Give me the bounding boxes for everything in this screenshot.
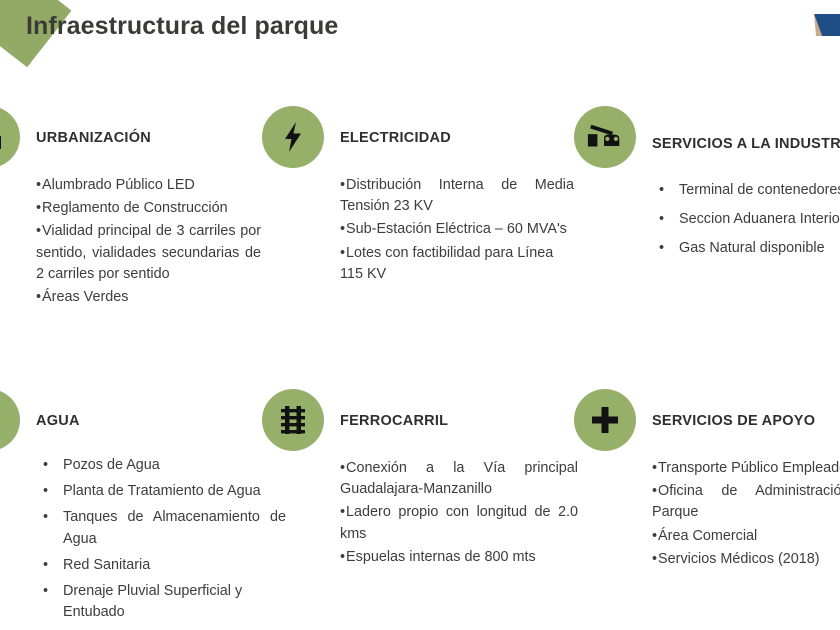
- feature-list: Pozos de Agua Planta de Tratamiento de A…: [36, 455, 286, 623]
- city-buildings-icon: [0, 106, 20, 168]
- list-item: Distribución Interna de Media Tensión 23…: [340, 175, 574, 217]
- list-item: Terminal de contenedores: [652, 180, 840, 201]
- feature-list: Conexión a la Vía principal Guadalajara-…: [340, 458, 578, 568]
- section-body: Conexión a la Vía principal Guadalajara-…: [340, 458, 578, 570]
- section-body: Distribución Interna de Media Tensión 23…: [340, 175, 574, 287]
- list-item: Vialidad principal de 3 carriles por sen…: [36, 221, 261, 285]
- feature-row-top: URBANIZACIÓN Alumbrado Público LED Regla…: [0, 100, 840, 370]
- list-item: Lotes con factibilidad para Línea 115 KV: [340, 243, 574, 285]
- company-logo: [806, 6, 840, 42]
- feature-list: Alumbrado Público LED Reglamento de Cons…: [36, 175, 261, 308]
- section-body: Transporte Público Empleados Oficina de …: [652, 458, 840, 572]
- list-item: Red Sanitaria: [36, 555, 286, 576]
- lightning-bolt-icon: [262, 106, 324, 168]
- section-body: Terminal de contenedores Seccion Aduaner…: [652, 180, 840, 268]
- list-item: Tanques de Almacenamiento de Agua: [36, 507, 286, 549]
- list-item: Pozos de Agua: [36, 455, 286, 476]
- section-heading: ELECTRICIDAD: [340, 130, 451, 146]
- water-drop-icon: [0, 389, 20, 451]
- section-body: Alumbrado Público LED Reglamento de Cons…: [36, 175, 261, 310]
- list-item: Área Comercial: [652, 526, 840, 547]
- list-item: Conexión a la Vía principal Guadalajara-…: [340, 458, 578, 500]
- section-heading: URBANIZACIÓN: [36, 130, 151, 146]
- section-heading: AGUA: [36, 413, 80, 429]
- list-item: Gas Natural disponible: [652, 238, 840, 259]
- list-item: Áreas Verdes: [36, 287, 261, 308]
- list-item: Ladero propio con longitud de 2.0 kms: [340, 502, 578, 544]
- medical-cross-icon: [574, 389, 636, 451]
- barrier-gate-car-icon: [574, 106, 636, 168]
- section-heading: SERVICIOS A LA INDUSTRIA: [652, 136, 840, 152]
- section-heading: FERROCARRIL: [340, 413, 448, 429]
- railroad-track-icon: [262, 389, 324, 451]
- list-item: Drenaje Pluvial Superficial y Entubado: [36, 581, 286, 623]
- feature-list: Distribución Interna de Media Tensión 23…: [340, 175, 574, 285]
- list-item: Transporte Público Empleados: [652, 458, 840, 479]
- page-title: Infraestructura del parque: [26, 12, 338, 41]
- list-item: Oficina de Administración de Parque: [652, 481, 840, 523]
- list-item: Espuelas internas de 800 mts: [340, 547, 578, 568]
- list-item: Reglamento de Construcción: [36, 198, 261, 219]
- feature-row-bottom: AGUA Pozos de Agua Planta de Tratamiento…: [0, 383, 840, 630]
- list-item: Alumbrado Público LED: [36, 175, 261, 196]
- list-item: Sub-Estación Eléctrica – 60 MVA's: [340, 219, 574, 240]
- section-body: Pozos de Agua Planta de Tratamiento de A…: [36, 455, 286, 628]
- section-heading: SERVICIOS DE APOYO: [652, 413, 815, 429]
- list-item: Planta de Tratamiento de Agua: [36, 481, 286, 502]
- feature-list: Terminal de contenedores Seccion Aduaner…: [652, 180, 840, 260]
- feature-list: Transporte Público Empleados Oficina de …: [652, 458, 840, 570]
- list-item: Seccion Aduanera Interior: [652, 209, 840, 230]
- list-item: Servicios Médicos (2018): [652, 549, 840, 570]
